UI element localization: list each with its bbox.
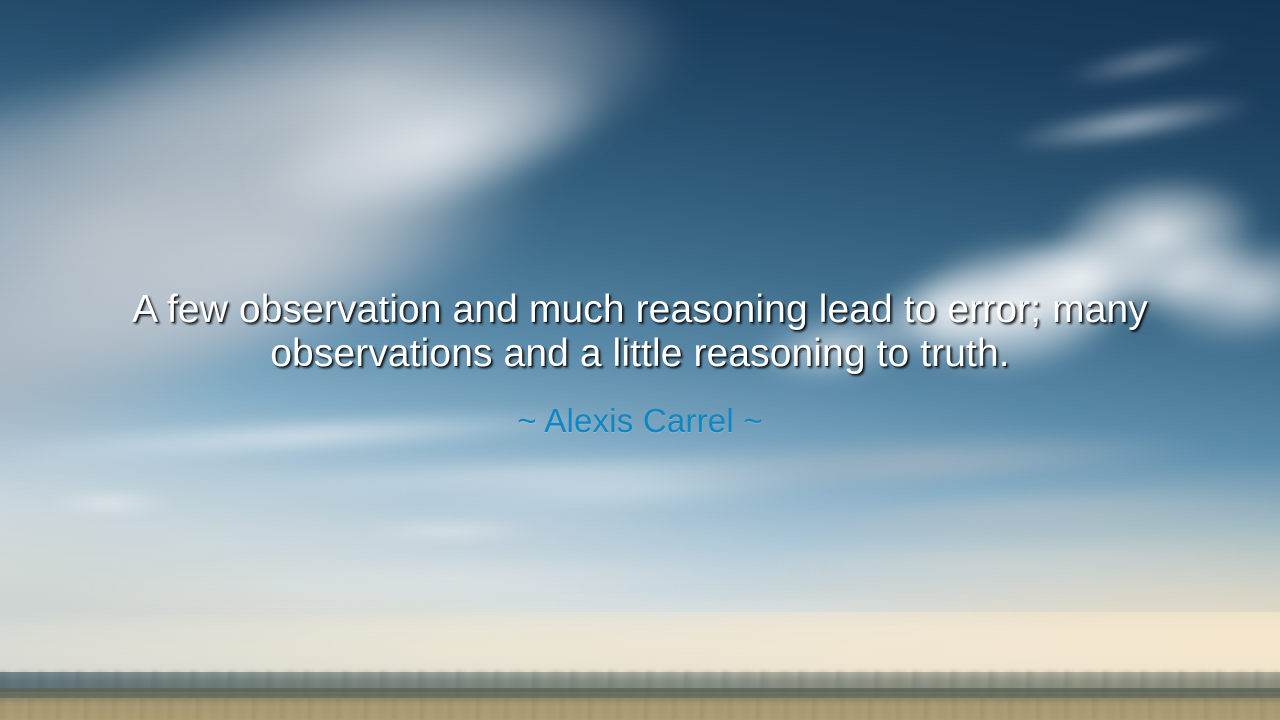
quote-overlay-block: A few observation and much reasoning lea… (0, 288, 1280, 440)
quote-attribution: ~ Alexis Carrel ~ (56, 402, 1224, 440)
quote-image-canvas: A few observation and much reasoning lea… (0, 0, 1280, 720)
quote-text: A few observation and much reasoning lea… (90, 288, 1190, 376)
foreground-field-texture (0, 696, 1280, 720)
